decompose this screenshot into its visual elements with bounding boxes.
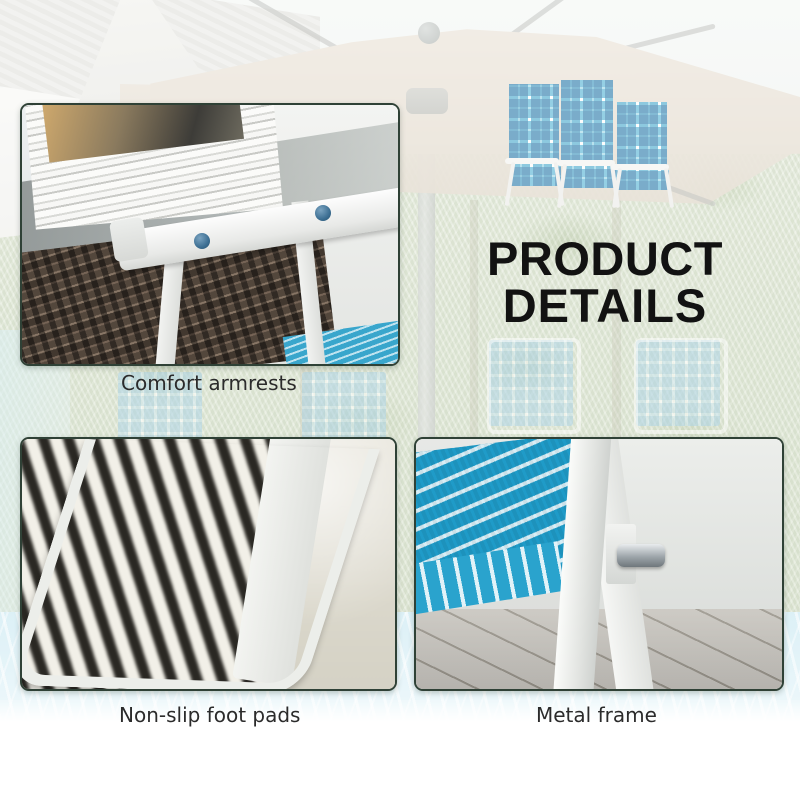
armrest-rivet [194,233,210,249]
product-detail-image: PRODUCT DETAILS Comfor [0,0,800,800]
caption-metal-frame: Metal frame [536,703,657,727]
tiled-floor [416,609,782,689]
armrest-rivet [315,205,331,221]
metal-hinge-pin [617,544,665,567]
headline-line-2: DETAILS [420,283,790,330]
panel-metal-frame [414,437,784,691]
page-title: PRODUCT DETAILS [420,236,790,329]
headline-line-1: PRODUCT [487,232,723,285]
panel-non-slip-foot-pads [20,437,397,691]
caption-comfort-armrests: Comfort armrests [121,371,297,395]
panel-comfort-armrests [20,103,400,366]
armrest-end-cap [109,217,149,263]
caption-non-slip-foot-pads: Non-slip foot pads [119,703,300,727]
